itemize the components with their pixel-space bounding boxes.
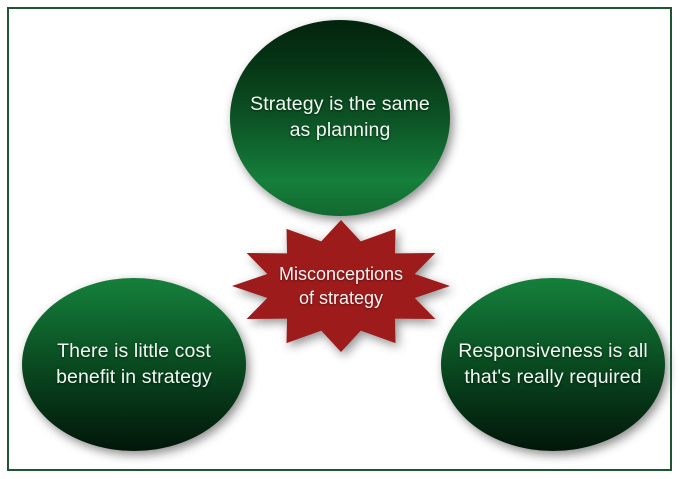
diagram-stage: Strategy is the same as planning There i… [0, 0, 680, 479]
star-shape-icon [231, 219, 451, 353]
node-there-is-little-cost-benefit-in-strategy[interactable]: There is little cost benefit in strategy [22, 278, 246, 451]
node-label: Strategy is the same as planning [243, 92, 437, 143]
node-responsiveness-is-all-thats-really-required[interactable]: Responsiveness is all that's really requ… [441, 278, 665, 451]
node-strategy-is-the-same-as-planning[interactable]: Strategy is the same as planning [230, 20, 450, 216]
diagram-canvas: Strategy is the same as planning There i… [0, 0, 680, 479]
node-label: Responsiveness is all that's really requ… [454, 339, 651, 390]
node-label: There is little cost benefit in strategy [35, 339, 232, 390]
center-star-node[interactable]: Misconceptions of strategy [231, 219, 451, 353]
